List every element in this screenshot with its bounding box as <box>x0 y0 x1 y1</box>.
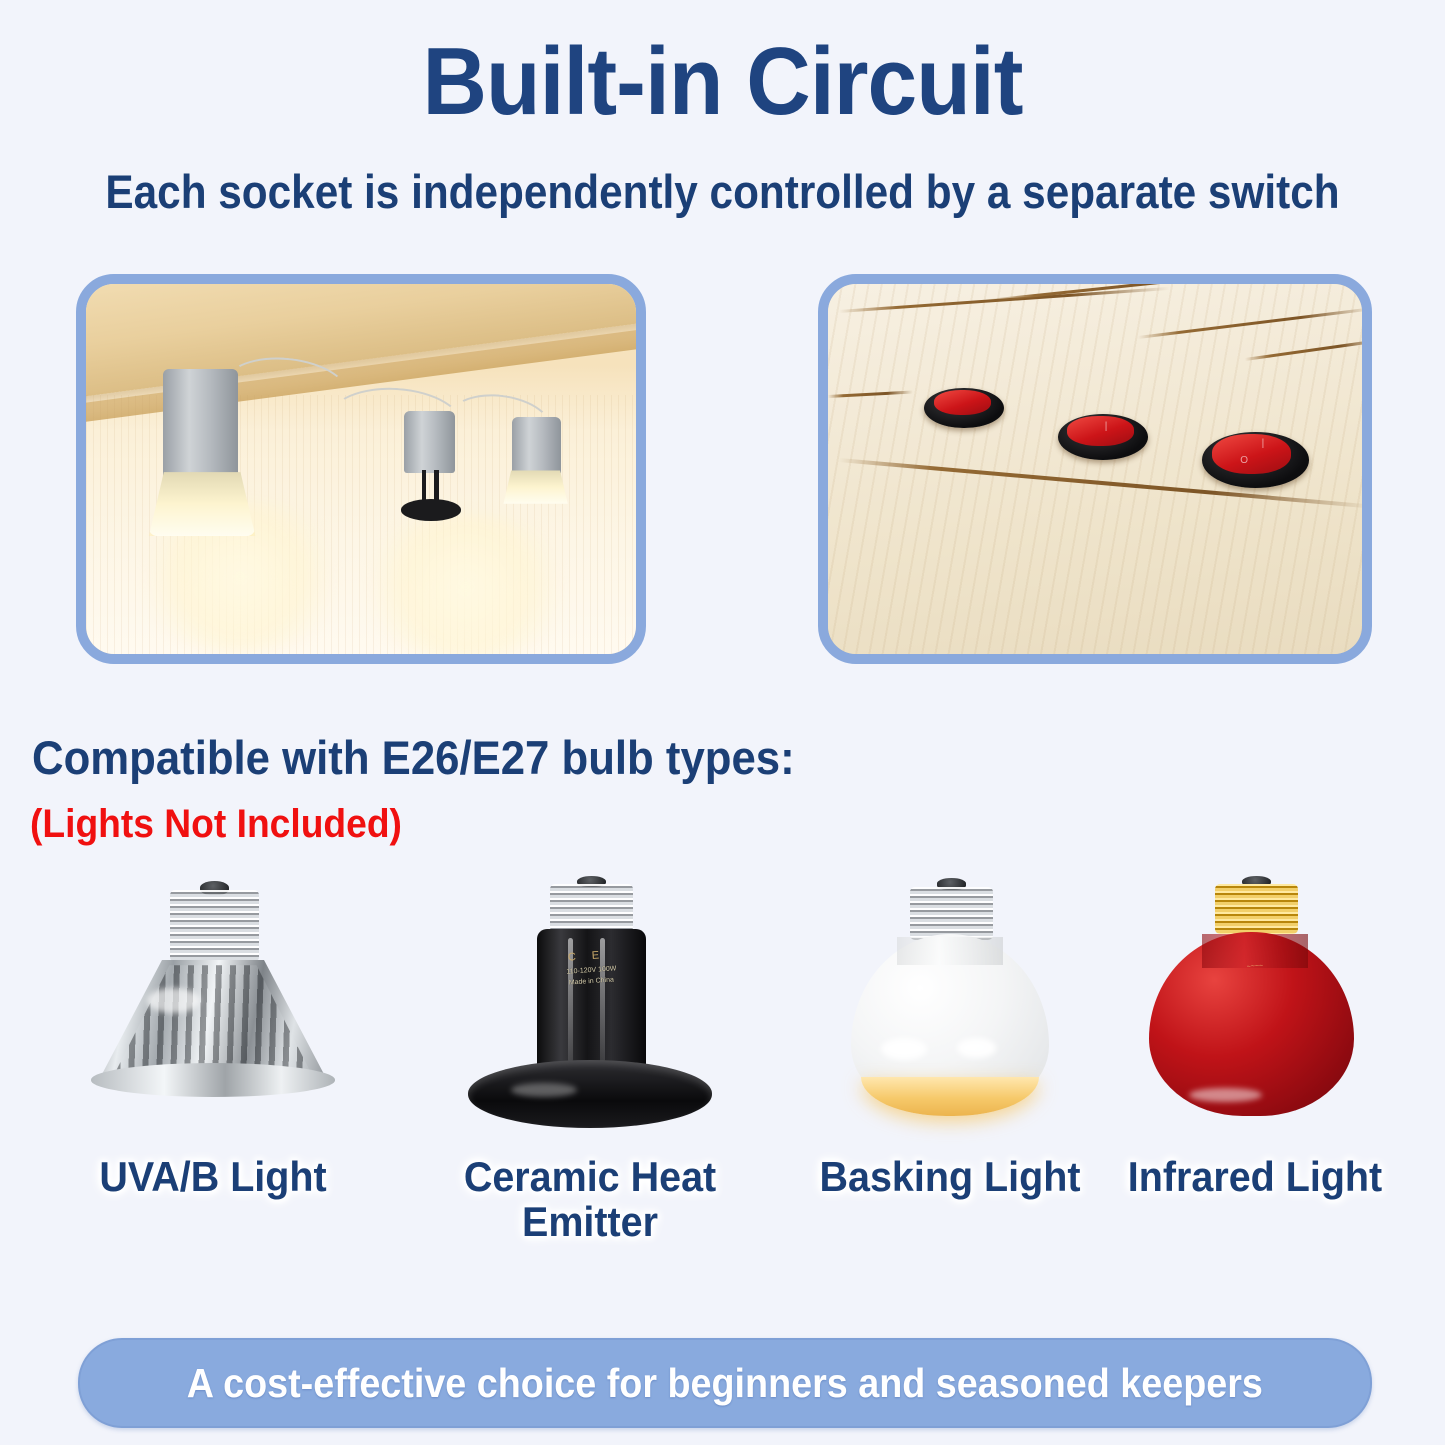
lights-not-included-note: (Lights Not Included) <box>30 802 402 847</box>
bulb-label: Basking Light <box>795 1155 1105 1200</box>
rocker-switch[interactable]: | O <box>1202 432 1309 488</box>
bulb-label: UVA/B Light <box>58 1155 368 1200</box>
basking-bulb-icon <box>785 870 1115 1150</box>
bulb-item-basking: Basking Light <box>785 870 1115 1270</box>
rocker-switch[interactable] <box>924 388 1004 429</box>
ceramic-heat-emitter-icon: CE 110-120V 100W Made in China <box>425 870 755 1150</box>
uvab-bulb-icon <box>48 870 378 1150</box>
bulb-item-infrared: ~~~~ Infrared Light <box>1090 870 1420 1270</box>
bulb-item-ceramic: CE 110-120V 100W Made in China Ceramic H… <box>425 870 755 1270</box>
bulb-label: Ceramic Heat Emitter <box>435 1155 745 1244</box>
page-title: Built-in Circuit <box>51 34 1395 130</box>
lamp-sockets-photo-content <box>86 284 636 654</box>
page-subtitle: Each socket is independently controlled … <box>72 168 1373 215</box>
lamp-socket <box>499 417 582 528</box>
infrared-bulb-icon: ~~~~ <box>1090 870 1420 1150</box>
bottom-banner: A cost-effective choice for beginners an… <box>78 1338 1372 1428</box>
lamp-sockets-photo <box>76 274 646 664</box>
rocker-switch[interactable]: | <box>1058 414 1149 460</box>
lamp-socket <box>389 406 477 539</box>
lamp-socket <box>147 369 268 547</box>
compatibility-heading: Compatible with E26/E27 bulb types: <box>32 730 795 785</box>
banner-text: A cost-effective choice for beginners an… <box>187 1360 1263 1407</box>
rocker-switches-photo: | | O <box>818 274 1372 664</box>
rocker-switches-photo-content: | | O <box>828 284 1362 654</box>
bulb-label: Infrared Light <box>1100 1155 1410 1200</box>
ce-mark-icon: CE <box>537 946 646 966</box>
bulb-item-uvab: UVA/B Light <box>48 870 378 1270</box>
